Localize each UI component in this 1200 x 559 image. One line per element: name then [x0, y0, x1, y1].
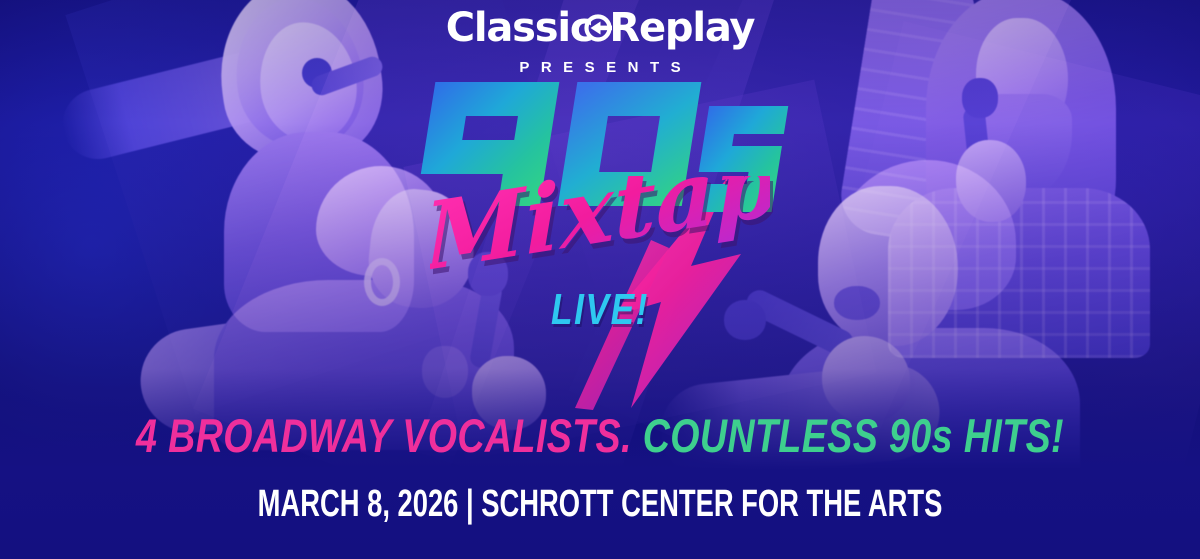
title-mixtape: Mixtape: [0, 176, 1200, 301]
tagline: 4 BROADWAY VOCALISTS. COUNTLESS 90s HITS…: [120, 408, 1080, 463]
event-date-venue: MARCH 8, 2026 | SCHROTT CENTER FOR THE A…: [168, 483, 1032, 526]
brand-name-part1: Classic: [446, 8, 593, 48]
event-banner: Classic Replay PRESENTS: [0, 0, 1200, 559]
live-label: LIVE!: [120, 285, 1080, 335]
brand-logo[interactable]: Classic Replay PRESENTS: [0, 8, 1200, 76]
banner-content: Classic Replay PRESENTS: [0, 0, 1200, 559]
replay-circle-icon: [583, 13, 613, 43]
tagline-green-segment: COUNTLESS 90s HITS!: [632, 409, 1064, 462]
mixtape-text: Mixtape: [430, 176, 770, 293]
brand-name-part2: Replay: [609, 8, 754, 48]
presents-label: PRESENTS: [508, 59, 692, 76]
tagline-pink-segment: 4 BROADWAY VOCALISTS.: [136, 409, 632, 462]
brand-logo-text: Classic Replay: [446, 8, 755, 48]
